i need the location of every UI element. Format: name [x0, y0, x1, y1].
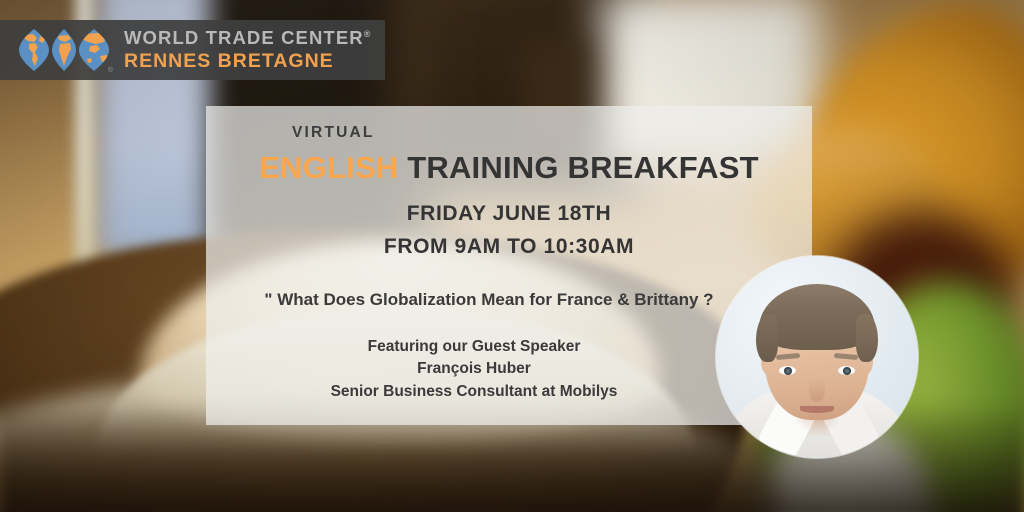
- event-time: FROM 9AM TO 10:30AM: [232, 235, 786, 259]
- headshot-eye-left: [779, 366, 796, 375]
- speaker-headshot: [716, 256, 918, 458]
- event-date: FRIDAY JUNE 18TH: [232, 202, 786, 226]
- headshot-eye-right: [838, 366, 855, 375]
- speaker-featuring-label: Featuring our Guest Speaker: [232, 336, 716, 358]
- headshot-hair-right: [856, 314, 878, 362]
- headshot-chin: [794, 414, 840, 432]
- headshot-pupil-right: [843, 367, 851, 375]
- headshot-hair-left: [756, 314, 778, 362]
- headshot-nose: [809, 378, 825, 402]
- event-title-rest: TRAINING BREAKFAST: [398, 150, 758, 185]
- speaker-info: Featuring our Guest Speaker François Hub…: [232, 336, 786, 403]
- brand-name-secondary: RENNES BRETAGNE: [124, 52, 371, 72]
- brand-name-primary: WORLD TRADE CENTER®: [124, 29, 371, 48]
- brand-registered-sup: ®: [364, 29, 372, 39]
- speaker-name: François Huber: [232, 358, 716, 380]
- speaker-role: Senior Business Consultant at Mobilys: [232, 381, 716, 403]
- headshot-mouth: [800, 406, 834, 413]
- logo-registered-mark: ®: [108, 67, 113, 74]
- brand-name-primary-text: WORLD TRADE CENTER: [124, 27, 364, 48]
- brand-logo-bar: ® WORLD TRADE CENTER® RENNES BRETAGNE: [0, 20, 385, 80]
- event-title-accent: ENGLISH: [259, 150, 398, 185]
- headshot-pupil-left: [784, 367, 792, 375]
- event-banner: ® WORLD TRADE CENTER® RENNES BRETAGNE VI…: [0, 0, 1024, 512]
- three-globes-icon: ®: [18, 28, 110, 72]
- event-topic: " What Does Globalization Mean for Franc…: [232, 290, 786, 310]
- brand-logo-text: WORLD TRADE CENTER® RENNES BRETAGNE: [124, 29, 371, 71]
- event-title: ENGLISH TRAINING BREAKFAST: [232, 150, 786, 186]
- event-kicker: VIRTUAL: [292, 124, 786, 142]
